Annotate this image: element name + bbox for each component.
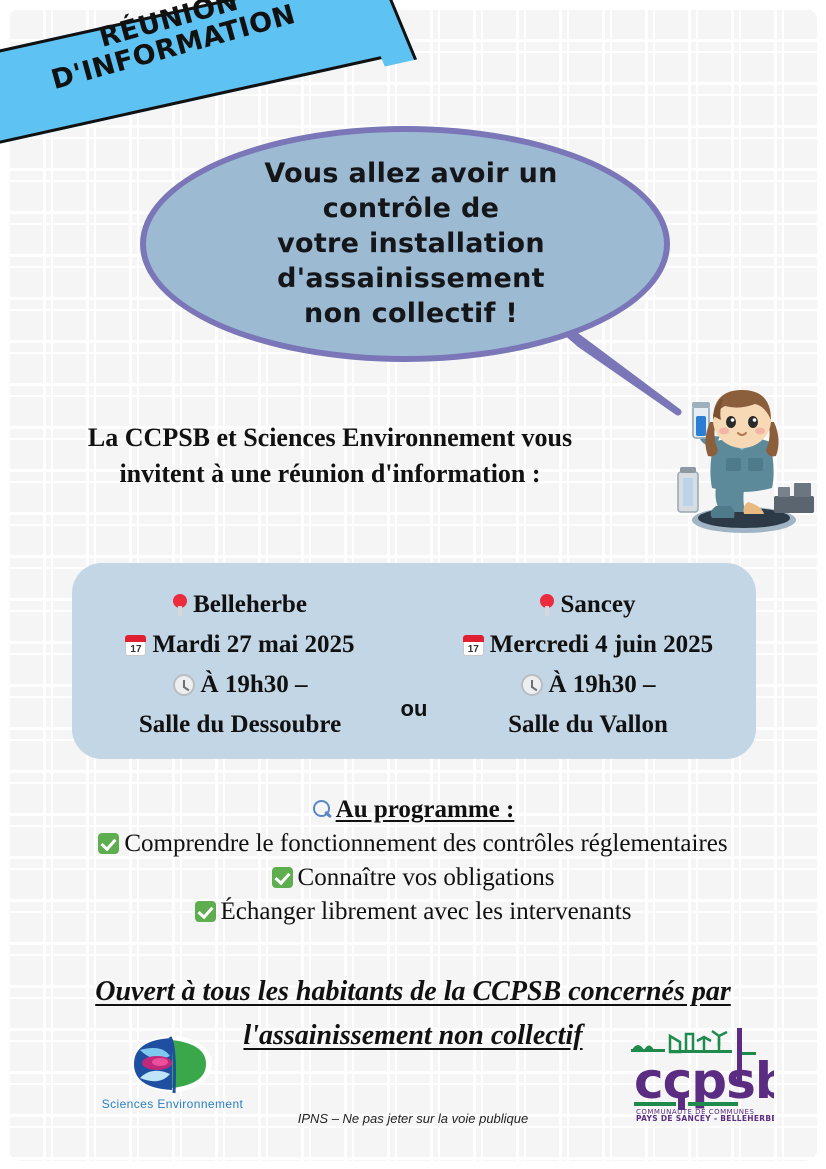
- invitation-line-1: La CCPSB et Sciences Environnement vous: [0, 420, 660, 456]
- session-time: À 19h30 –: [549, 665, 656, 705]
- map-pin-icon: [540, 594, 554, 616]
- programme-item: Échanger librement avec les intervenants: [0, 895, 826, 929]
- session-venue-row: Salle du Dessoubre: [90, 705, 390, 745]
- programme-item: Comprendre le fonctionnement des contrôl…: [0, 827, 826, 861]
- calendar-day: 17: [464, 643, 483, 656]
- calendar-day: 17: [126, 643, 145, 656]
- sessions-box: Belleherbe 17 Mardi 27 mai 2025 À 19h30 …: [72, 563, 756, 759]
- open-line-1: Ouvert à tous les habitants de la CCPSB …: [95, 976, 731, 1007]
- session-city-row: Sancey: [438, 585, 738, 625]
- calendar-icon: 17: [463, 635, 484, 656]
- footer-note: IPNS – Ne pas jeter sur la voie publique: [0, 1111, 826, 1126]
- sciences-environnement-caption: Sciences Environnement: [100, 1097, 245, 1111]
- programme-item-label: Échanger librement avec les intervenants: [221, 895, 632, 929]
- session-sancey: Sancey 17 Mercredi 4 juin 2025 À 19h30 –…: [438, 585, 738, 745]
- bubble-line-4: d'assainissement: [172, 261, 650, 296]
- check-icon: [195, 901, 216, 922]
- session-time-row: À 19h30 –: [438, 665, 738, 705]
- technician-character-illustration: [664, 384, 824, 534]
- magnifier-icon: [312, 800, 332, 820]
- calendar-icon: 17: [125, 635, 146, 656]
- clock-icon: [173, 674, 195, 696]
- programme-heading-label: Au programme :: [336, 793, 515, 827]
- programme-section: Au programme : Comprendre le fonctionnem…: [0, 793, 826, 929]
- invitation-line-2: invitent à une réunion d'information :: [0, 456, 660, 492]
- session-time: À 19h30 –: [201, 665, 308, 705]
- session-venue: Salle du Dessoubre: [139, 705, 341, 745]
- session-date-row: 17 Mercredi 4 juin 2025: [438, 625, 738, 665]
- ccpsb-logo: ccpsb COMMUNAUTÉ DE COMMUNES PAYS DE SAN…: [626, 1022, 774, 1122]
- check-icon: [98, 833, 119, 854]
- session-time-row: À 19h30 –: [90, 665, 390, 705]
- session-venue: Salle du Vallon: [508, 705, 668, 745]
- session-city-row: Belleherbe: [90, 585, 390, 625]
- clock-icon: [521, 674, 543, 696]
- session-date: Mercredi 4 juin 2025: [490, 625, 713, 665]
- session-date: Mardi 27 mai 2025: [152, 625, 354, 665]
- session-belleherbe: Belleherbe 17 Mardi 27 mai 2025 À 19h30 …: [90, 585, 390, 745]
- sessions-separator: ou: [401, 696, 428, 722]
- session-city: Sancey: [560, 585, 635, 625]
- map-pin-icon: [173, 594, 187, 616]
- poster-page: RÉUNION D'INFORMATION Vous allez avoir u…: [0, 0, 826, 1169]
- session-date-row: 17 Mardi 27 mai 2025: [90, 625, 390, 665]
- speech-bubble-text: Vous allez avoir un contrôle de votre in…: [146, 156, 676, 331]
- speech-bubble: Vous allez avoir un contrôle de votre in…: [140, 126, 670, 362]
- bubble-line-1: Vous allez avoir un: [172, 156, 650, 191]
- programme-item-label: Connaître vos obligations: [298, 861, 555, 895]
- bubble-line-2: contrôle de: [172, 191, 650, 226]
- session-venue-row: Salle du Vallon: [438, 705, 738, 745]
- open-line-2: l'assainissement non collectif: [243, 1020, 582, 1051]
- programme-item-label: Comprendre le fonctionnement des contrôl…: [124, 827, 727, 861]
- session-city: Belleherbe: [193, 585, 307, 625]
- check-icon: [272, 867, 293, 888]
- bubble-line-5: non collectif !: [172, 296, 650, 331]
- sciences-environnement-mark: [100, 1034, 245, 1096]
- programme-heading: Au programme :: [0, 793, 826, 827]
- programme-item: Connaître vos obligations: [0, 861, 826, 895]
- bubble-line-3: votre installation: [172, 226, 650, 261]
- invitation-text: La CCPSB et Sciences Environnement vous …: [0, 420, 660, 492]
- svg-text:ccpsb: ccpsb: [634, 1052, 774, 1110]
